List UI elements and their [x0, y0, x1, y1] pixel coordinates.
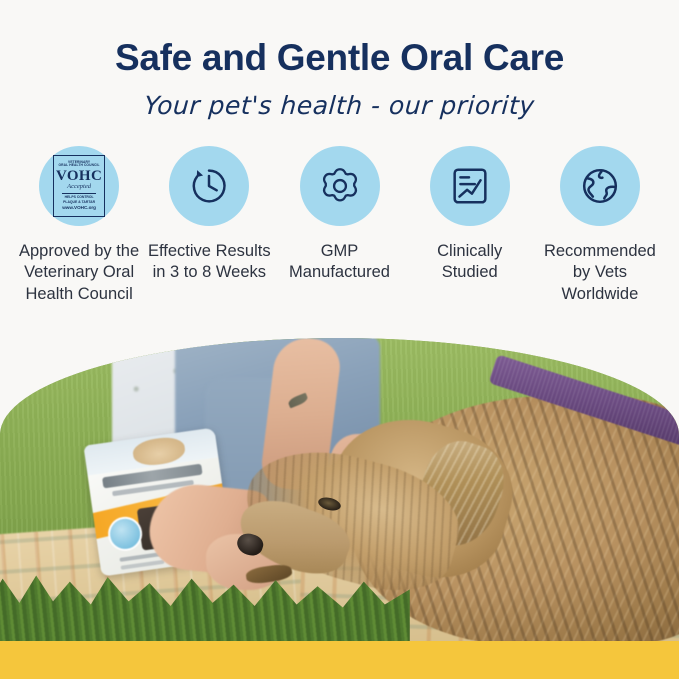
vohc-seal-url: www.VOHC.org [62, 206, 96, 211]
badge-label: Recommended by Vets Worldwide [537, 241, 662, 306]
badge-gmp-manufactured: GMP Manufactured [274, 146, 404, 285]
hero-photo [0, 338, 679, 641]
badge-icon-circle: VETERINARY ORAL HEALTH COUNCIL VOHC Acce… [39, 146, 119, 226]
globe-icon [577, 163, 623, 209]
badge-label: Approved by the Veterinary Oral Health C… [17, 241, 142, 306]
badge-clinically-studied: Clinically Studied [405, 146, 535, 285]
product-bag-text-line-2 [121, 560, 165, 570]
chart-document-icon [447, 163, 493, 209]
trust-badge-row: VETERINARY ORAL HEALTH COUNCIL VOHC Acce… [0, 146, 679, 306]
badge-effective-results: Effective Results in 3 to 8 Weeks [144, 146, 274, 285]
hero-photo-image [0, 338, 679, 641]
page-title: Safe and Gentle Oral Care [0, 0, 679, 79]
bottom-accent-bar [0, 641, 679, 679]
gear-icon [317, 163, 363, 209]
badge-vohc-approved: VETERINARY ORAL HEALTH COUNCIL VOHC Acce… [14, 146, 144, 306]
vohc-seal-sub-line-2: PLAQUE & TARTAR [63, 200, 95, 204]
vohc-seal-accepted: Accepted [67, 184, 91, 191]
badge-icon-circle [430, 146, 510, 226]
badge-label: Clinically Studied [407, 241, 532, 285]
clock-arrow-icon [186, 163, 232, 209]
badge-label: Effective Results in 3 to 8 Weeks [147, 241, 272, 285]
page-subtitle: Your pet's health - our priority [0, 91, 679, 120]
badge-icon-circle [169, 146, 249, 226]
vohc-seal-wordmark: VOHC [56, 169, 102, 185]
vohc-seal-icon: VETERINARY ORAL HEALTH COUNCIL VOHC Acce… [53, 155, 105, 217]
vohc-seal-divider [62, 193, 96, 194]
badge-label: GMP Manufactured [277, 241, 402, 285]
badge-icon-circle [300, 146, 380, 226]
badge-icon-circle [560, 146, 640, 226]
badge-recommended-by-vets: Recommended by Vets Worldwide [535, 146, 665, 306]
